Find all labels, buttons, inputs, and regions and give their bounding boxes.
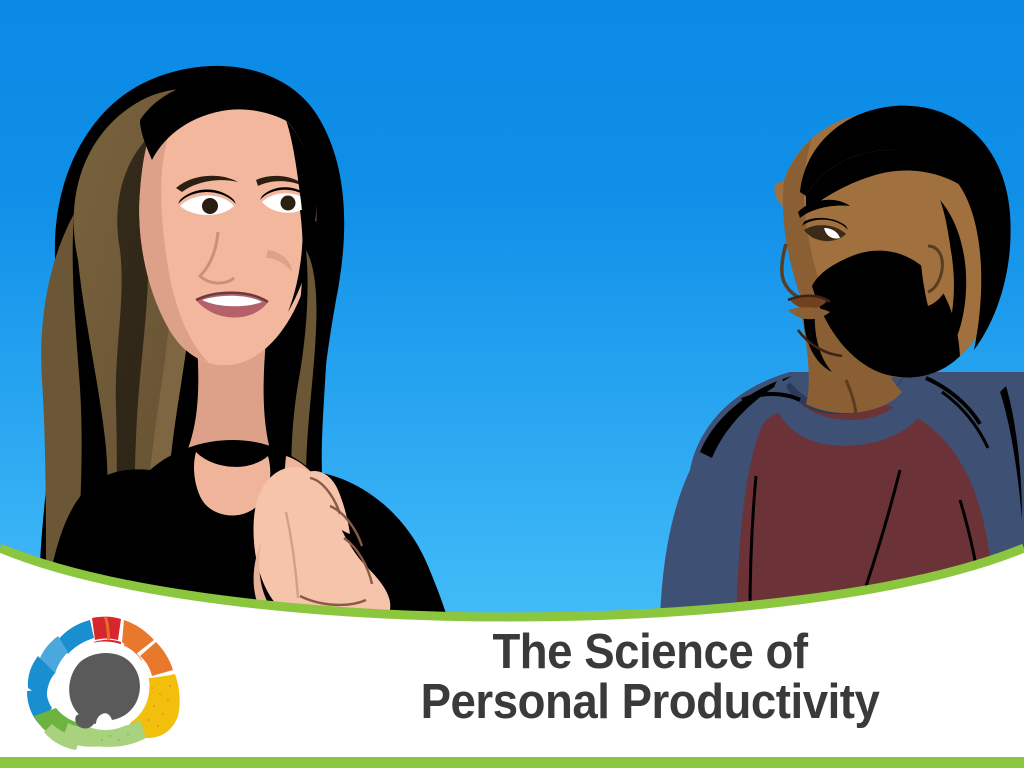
title-line-2: Personal Productivity [325, 678, 976, 728]
page-title: The Science of Personal Productivity [300, 628, 1000, 728]
video-title-card: The Science of Personal Productivity [0, 0, 1024, 768]
woman-illustration [39, 66, 448, 642]
man-illustration [660, 106, 1024, 620]
green-accent-bar [0, 757, 1024, 768]
brain-logo [18, 596, 198, 756]
title-line-1: The Science of [325, 628, 976, 678]
